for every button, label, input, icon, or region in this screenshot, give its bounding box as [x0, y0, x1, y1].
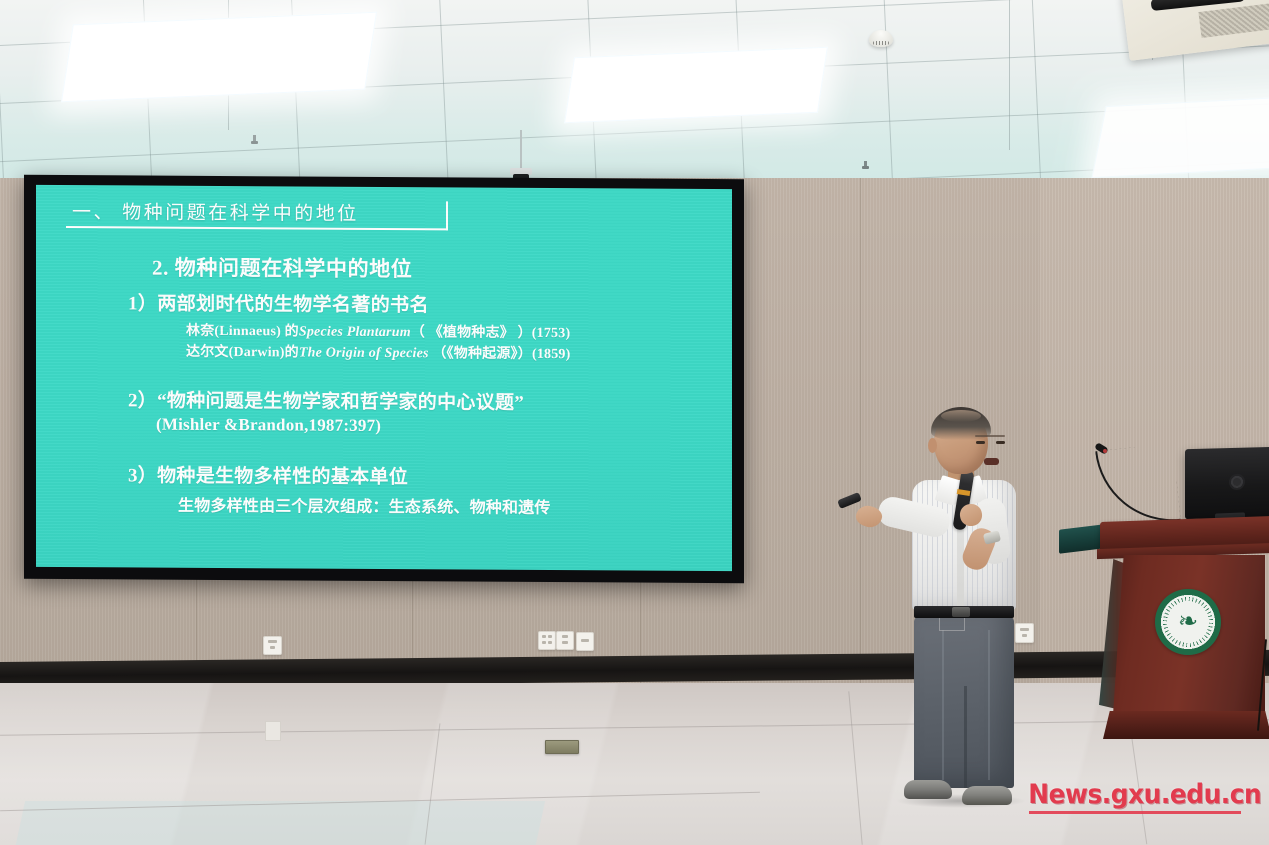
trousers: [914, 616, 1014, 788]
hair: [931, 407, 991, 440]
mic-indicator-light: [1103, 449, 1107, 453]
sprinkler-head-icon: [251, 135, 258, 146]
ref-meta-1: （ 《植物种志》 ）(1753): [411, 325, 571, 341]
slide-block-1-line-2: 达尔文(Darwin)的The Origin of Species （《物种起源…: [186, 341, 720, 364]
watermark-underline: [1029, 811, 1241, 814]
sprinkler-head-icon: [862, 161, 869, 171]
slide-header: 一、 物种问题在科学中的地位: [72, 197, 472, 241]
slide-block-1-title: 1）两部划时代的生物学名著的书名: [128, 288, 720, 319]
slide-block-2-title: 2）“物种问题是生物学家和哲学家的中心议题”: [128, 385, 720, 416]
slide-block-3-line-1: 生物多样性由三个层次组成：生态系统、物种和遗传: [178, 492, 720, 519]
slide-block-1-label: 两部划时代的生物学名著的书名: [157, 294, 429, 317]
shoe-left: [904, 780, 952, 799]
slide-block-2-number: 2）: [128, 390, 157, 411]
slide-heading: 2. 物种问题在科学中的地位: [152, 252, 720, 285]
wall-switch[interactable]: [556, 631, 574, 650]
lecture-hall-photo: 一、 物种问题在科学中的地位 2. 物种问题在科学中的地位 1）两部划时代的生物…: [0, 0, 1269, 845]
watermark: News.gxu.edu.cn: [1019, 779, 1251, 814]
watermark-text: News.gxu.edu.cn: [1028, 779, 1241, 810]
ceiling: [0, 0, 1269, 200]
floor: [0, 683, 1269, 845]
slide-header-tick: [446, 201, 448, 230]
ac-grille: [1198, 3, 1269, 38]
led-panel-light: [61, 12, 377, 103]
ref-title-2: The Origin of Species: [299, 345, 429, 361]
ref-author-1: 林奈(Linnaeus) 的: [186, 324, 299, 340]
led-display-bezel: 一、 物种问题在科学中的地位 2. 物种问题在科学中的地位 1）两部划时代的生物…: [24, 175, 744, 583]
shoe-right: [962, 786, 1012, 805]
emblem-glyph: ❧: [1171, 607, 1205, 637]
slide-block-1-line-1: 林奈(Linnaeus) 的Species Plantarum（ 《植物种志》 …: [186, 320, 720, 343]
wall-socket[interactable]: [263, 636, 282, 655]
lectern-base: [1103, 711, 1269, 739]
presentation-slide: 一、 物种问题在科学中的地位 2. 物种问题在科学中的地位 1）两部划时代的生物…: [36, 185, 732, 571]
wall-switch[interactable]: [538, 631, 556, 650]
university-emblem-icon: ❧: [1155, 589, 1221, 655]
presenter: [900, 410, 1030, 805]
slide-block-2-citation: (Mishler &Brandon,1987:397): [156, 415, 720, 438]
ref-author-2: 达尔文(Darwin)的: [186, 345, 299, 361]
slide-body: 2. 物种问题在科学中的地位 1）两部划时代的生物学名著的书名 林奈(Linna…: [120, 251, 720, 519]
slide-block-1-number: 1）: [128, 293, 157, 314]
belt-buckle: [952, 607, 970, 617]
desktop-monitor: [1185, 447, 1269, 520]
ear: [928, 438, 937, 453]
wall-socket[interactable]: [576, 632, 594, 651]
led-panel-light: [564, 47, 828, 123]
smoke-detector-icon: [869, 30, 893, 47]
led-panel-light: [1092, 94, 1269, 178]
slide-block-3-title: 3）物种是生物多样性的基本单位: [128, 460, 720, 491]
slide-header-text: 一、 物种问题在科学中的地位: [72, 197, 472, 226]
ref-meta-2: （《物种起源》）(1859): [429, 346, 571, 362]
floor-plate: [265, 721, 281, 741]
slide-block-2-label: “物种问题是生物学家和哲学家的中心议题”: [157, 391, 524, 414]
slide-block-3-label: 物种是生物多样性的基本单位: [157, 466, 408, 489]
ref-title-1: Species Plantarum: [299, 324, 411, 340]
slide-block-3-number: 3）: [128, 465, 157, 486]
floor-outlet-box[interactable]: [545, 740, 579, 754]
projector-stem: [520, 130, 522, 170]
lectern: ❧: [1103, 519, 1269, 739]
slide-header-rule: [66, 226, 448, 230]
